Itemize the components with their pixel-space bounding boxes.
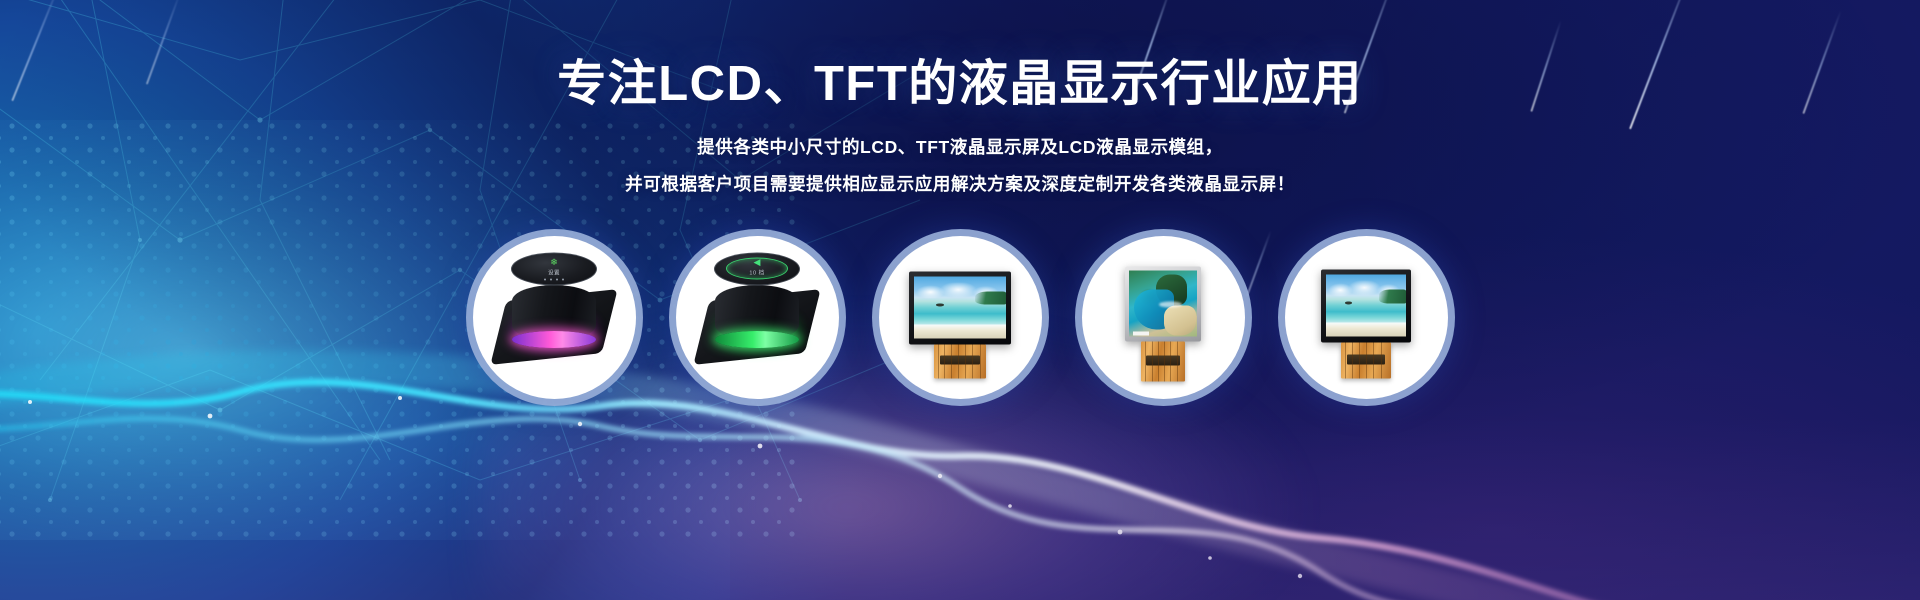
- product-circle-tft-lcd-panel-beach-wide[interactable]: [879, 236, 1042, 399]
- product-circle-row: ❄ 设置 ◀ 10 档: [0, 236, 1920, 399]
- speaker-top-display: ◀ 10 档: [714, 252, 800, 285]
- hero-banner: 专注LCD、TFT的液晶显示行业应用 提供各类中小尺寸的LCD、TFT液晶显示屏…: [0, 0, 1920, 600]
- lcd-panel: [909, 271, 1011, 344]
- screen-image-aerial-coast: [1129, 271, 1197, 337]
- speaker-body: [715, 285, 799, 341]
- screen-image-beach: [914, 276, 1006, 338]
- speaker-body: [512, 285, 596, 341]
- speaker-top-display: ❄ 设置: [511, 252, 597, 285]
- lcd-panel: [1125, 267, 1201, 342]
- speaker-led-ring: [512, 331, 596, 348]
- product-circle-tft-lcd-panel-aerial-coast[interactable]: [1082, 236, 1245, 399]
- speaker-led-ring: [715, 331, 799, 348]
- lcd-screen: [1326, 275, 1406, 337]
- fpc-ribbon-cable: [1341, 343, 1391, 379]
- speaker-screen-label: 10 档: [749, 268, 764, 276]
- leaf-icon: ❄: [550, 258, 558, 267]
- arrow-icon: ◀: [754, 258, 761, 267]
- lcd-screen: [1129, 271, 1197, 337]
- product-circle-tft-lcd-panel-beach-square[interactable]: [1285, 236, 1448, 399]
- product-circle-smart-speaker-magenta[interactable]: ❄ 设置: [473, 236, 636, 399]
- fpc-ribbon-cable: [1141, 342, 1185, 382]
- lcd-panel: [1321, 270, 1411, 343]
- banner-text-block: 专注LCD、TFT的液晶显示行业应用 提供各类中小尺寸的LCD、TFT液晶显示屏…: [0, 58, 1920, 194]
- speaker-indicator-dots: [544, 278, 564, 280]
- page-title: 专注LCD、TFT的液晶显示行业应用: [0, 58, 1920, 111]
- subtitle-line-2: 并可根据客户项目需要提供相应显示应用解决方案及深度定制开发各类液晶显示屏！: [0, 175, 1920, 194]
- fpc-ribbon-cable: [934, 344, 986, 378]
- subtitle-line-1: 提供各类中小尺寸的LCD、TFT液晶显示屏及LCD液晶显示模组，: [0, 138, 1920, 157]
- product-circle-smart-speaker-green[interactable]: ◀ 10 档: [676, 236, 839, 399]
- lcd-screen: [914, 276, 1006, 338]
- speaker-screen-label: 设置: [548, 268, 560, 276]
- screen-image-beach: [1326, 275, 1406, 337]
